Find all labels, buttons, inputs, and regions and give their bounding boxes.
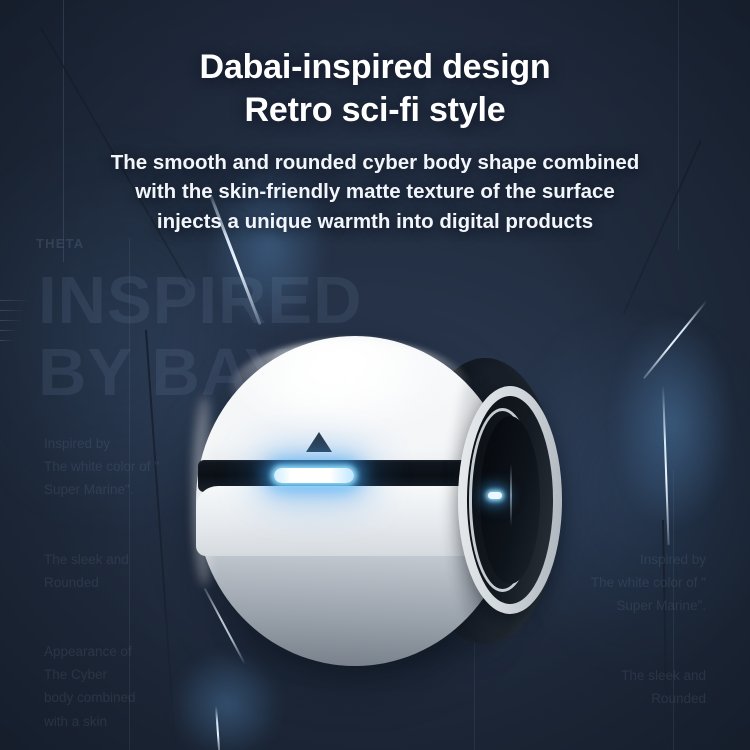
headline-block: Dabai-inspired design Retro sci-fi style…: [0, 46, 750, 236]
headline-line-1: Dabai-inspired design: [0, 46, 750, 89]
caption-right-mid: Inspired by The white color of " Super M…: [591, 548, 706, 618]
body-copy: The smooth and rounded cyber body shape …: [45, 148, 705, 235]
side-port-ring: [458, 386, 562, 614]
caption-left-mid: The sleek and Rounded: [44, 548, 129, 594]
headline-line-2: Retro sci-fi style: [0, 89, 750, 132]
product-feature-banner: THETA INSPIRED BY BAY Inspired by The wh…: [0, 0, 750, 750]
body-copy-line-2: with the skin-friendly matte texture of …: [45, 177, 705, 206]
watermark-tag: THETA: [36, 236, 84, 251]
body-copy-line-1: The smooth and rounded cyber body shape …: [45, 148, 705, 177]
device-top-highlight: [230, 340, 470, 436]
body-copy-line-3: injects a unique warmth into digital pro…: [45, 207, 705, 236]
product-device: [196, 336, 558, 666]
ring-status-dot: [488, 492, 502, 499]
caption-right-bottom: The sleek and Rounded: [621, 664, 706, 710]
led-status-bar: [274, 468, 354, 483]
corner-hatch-left: [0, 300, 40, 360]
watermark-line-1: INSPIRED: [38, 268, 362, 334]
ring-specular-streak: [510, 464, 512, 526]
triangle-indicator-icon: [306, 432, 332, 452]
caption-left-top: Inspired by The white color of " Super M…: [44, 432, 159, 502]
decor-glow-right: [612, 318, 732, 528]
caption-left-bottom: Appearance of The Cyber body combined wi…: [44, 640, 136, 733]
